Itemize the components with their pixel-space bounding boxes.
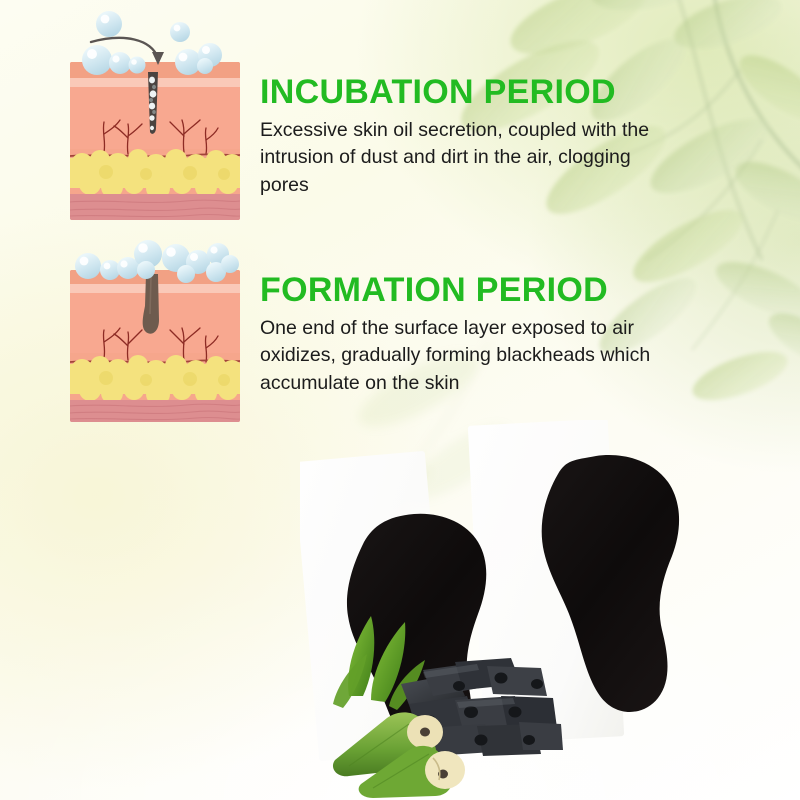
formation-body: One end of the surface layer exposed to … <box>260 315 704 398</box>
skin-cross-section-blackhead-plug-illustration <box>66 236 244 426</box>
bamboo-charcoal-ingredients-photo <box>305 600 575 800</box>
incubation-body: Excessive skin oil secretion, coupled wi… <box>260 117 680 200</box>
incubation-heading: INCUBATION PERIOD <box>260 74 680 111</box>
infographic-page: INCUBATION PERIOD Excessive skin oil sec… <box>0 0 800 800</box>
skin-cross-section-clogged-pore-illustration <box>66 2 244 222</box>
formation-section: FORMATION PERIOD One end of the surface … <box>260 272 704 398</box>
incubation-section: INCUBATION PERIOD Excessive skin oil sec… <box>260 74 680 200</box>
formation-heading: FORMATION PERIOD <box>260 272 704 309</box>
